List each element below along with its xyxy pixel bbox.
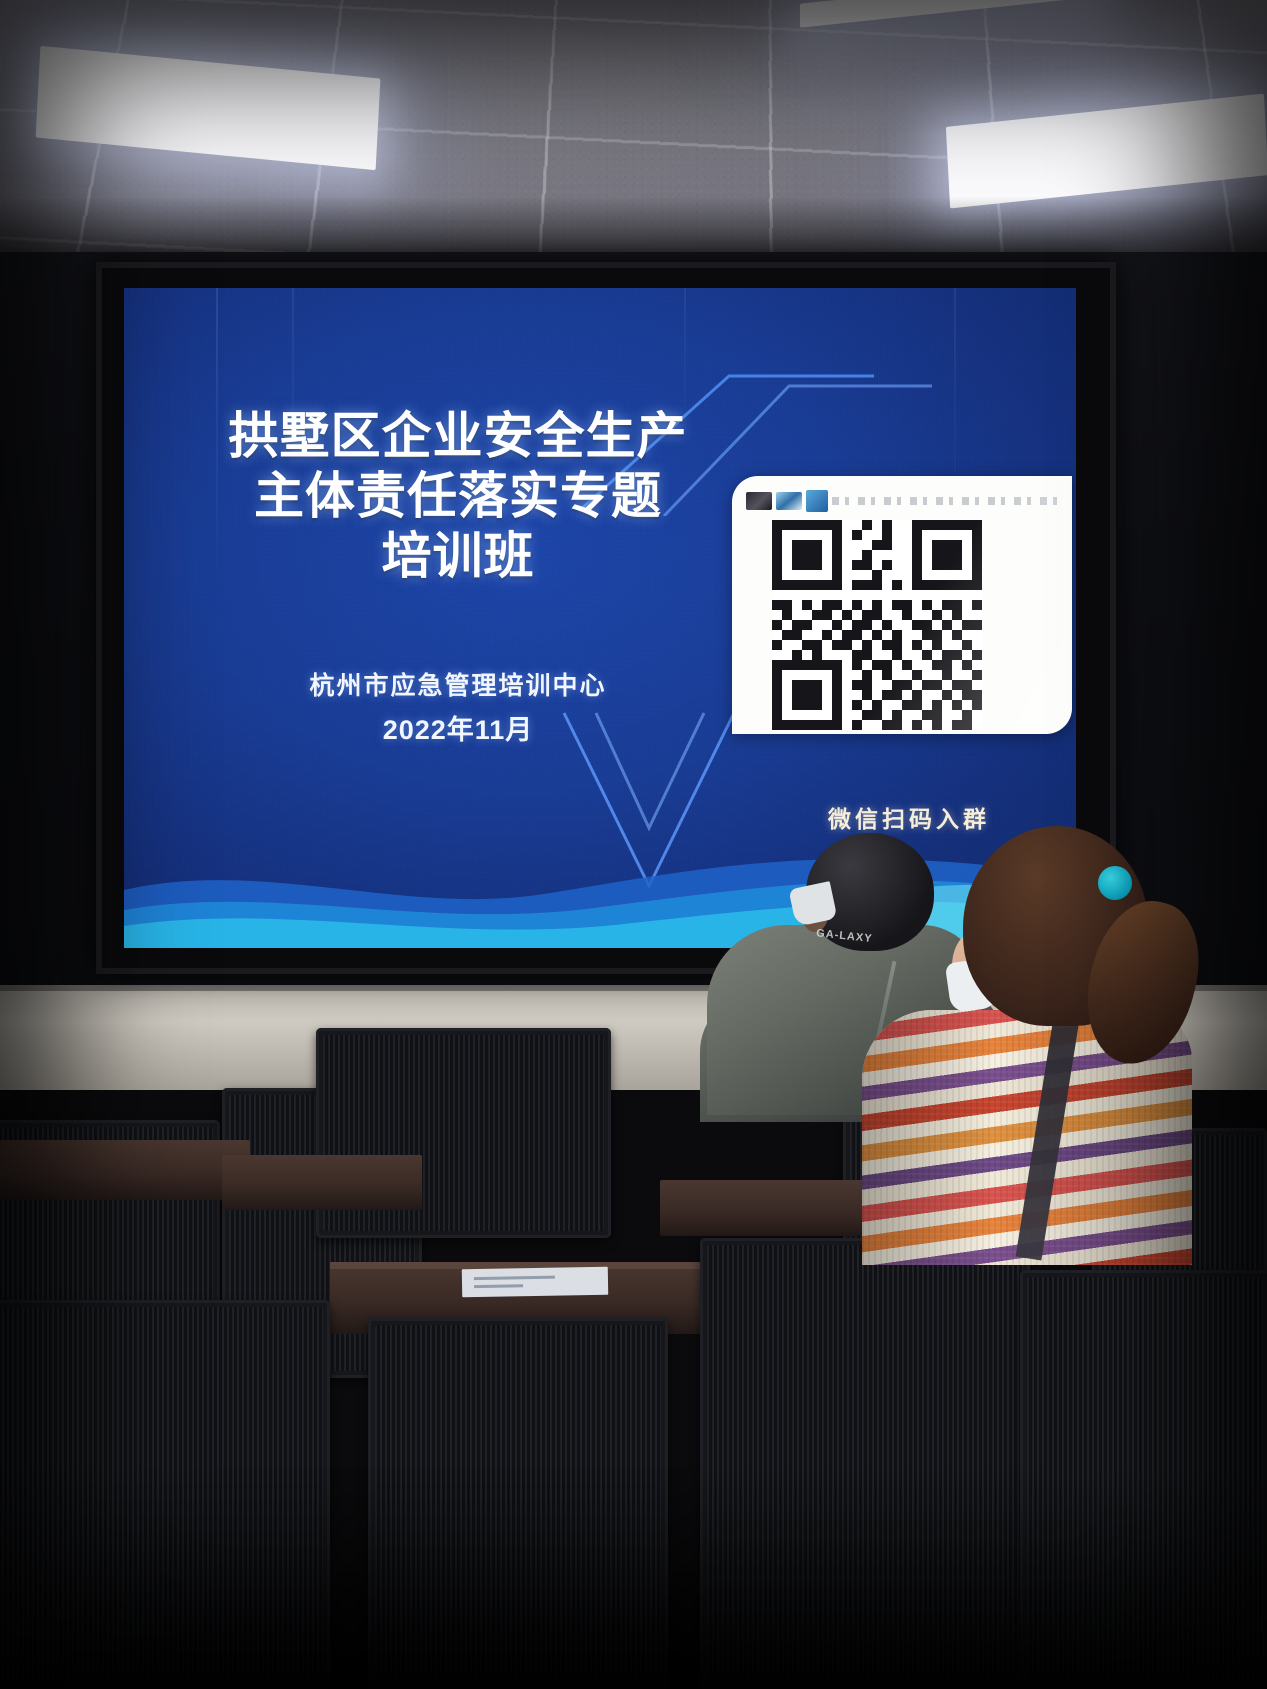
paper-text-line [474, 1284, 524, 1288]
ceiling [0, 0, 1267, 268]
chair [700, 1238, 1030, 1689]
thumbnail-icon [776, 492, 802, 510]
slide-title-line: 主体责任落实专题 [178, 466, 738, 526]
qr-code-icon [772, 520, 982, 730]
qr-code-card [732, 476, 1072, 734]
thumbnail-icon [746, 492, 772, 510]
chair [368, 1318, 668, 1689]
presentation-slide: 拱墅区企业安全生产 主体责任落实专题 培训班 杭州市应急管理培训中心 2022年… [124, 288, 1076, 948]
qr-header-text-blur [832, 497, 1058, 505]
slide-organization: 杭州市应急管理培训中心 [178, 666, 738, 702]
classroom-photo: 拱墅区企业安全生产 主体责任落实专题 培训班 杭州市应急管理培训中心 2022年… [0, 0, 1267, 1689]
slide-title-line: 拱墅区企业安全生产 [178, 406, 738, 466]
desk [222, 1155, 422, 1210]
chair-mesh [0, 1307, 323, 1683]
projection-screen: 拱墅区企业安全生产 主体责任落实专题 培训班 杭州市应急管理培训中心 2022年… [96, 262, 1116, 974]
desk-paper [462, 1267, 608, 1298]
thumbnail-icon [806, 490, 828, 512]
qr-card-header [746, 484, 1058, 518]
chair [1020, 1270, 1267, 1689]
slide-title: 拱墅区企业安全生产 主体责任落实专题 培训班 [178, 406, 738, 586]
slide-title-line: 培训班 [178, 526, 738, 586]
chair-mesh [375, 1325, 661, 1683]
slide-date: 2022年11月 [178, 708, 738, 747]
chair-mesh [707, 1245, 1023, 1683]
desk [0, 1140, 250, 1200]
paper-text-line [474, 1276, 556, 1280]
hair-tie [1098, 866, 1132, 900]
chair [0, 1300, 330, 1689]
qr-caption: 微信扫码入群 [764, 800, 1054, 834]
chair-mesh [1027, 1277, 1263, 1683]
